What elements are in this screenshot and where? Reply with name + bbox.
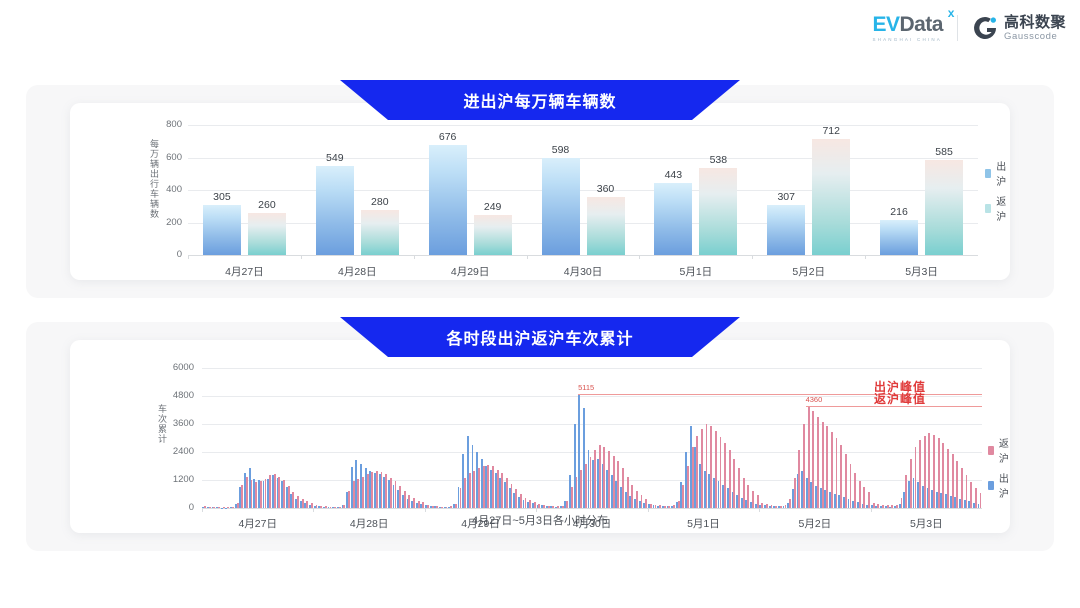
chart2-bar-ret-32	[353, 481, 355, 508]
chart2-bar-ret-114	[733, 459, 735, 508]
chart2-bar-ret-93	[636, 491, 638, 509]
chart2-bar-ret-28	[334, 507, 336, 508]
chart2-bar-ret-0	[204, 506, 206, 508]
chart2-bar-ret-92	[631, 485, 633, 508]
chart2-bar-ret-121	[766, 504, 768, 508]
chart2-y-tick-4: 4800	[160, 390, 194, 401]
chart1-bar-返沪-1	[361, 210, 399, 256]
chart1-bar-返沪-3	[587, 197, 625, 256]
legend1-item-0[interactable]: 出沪	[985, 158, 1010, 188]
chart2-bar-ret-128	[798, 450, 800, 508]
chart1-bar-出沪-6	[880, 220, 918, 255]
chart2-bar-ret-22	[306, 501, 308, 508]
chart2-bar-ret-116	[743, 478, 745, 508]
chart1-bar-返沪-4	[699, 168, 737, 255]
chart1-bar-出沪-0	[203, 205, 241, 255]
chart2-bar-ret-138	[845, 454, 847, 508]
chart2-bar-ret-54	[455, 504, 457, 508]
chart2-bar-ret-150	[901, 498, 903, 509]
chart1-y-tick-0: 0	[148, 249, 182, 260]
chart2-bar-ret-135	[831, 432, 833, 508]
chart2-bar-ret-30	[343, 505, 345, 509]
chart2-bar-ret-122	[771, 505, 773, 508]
chart2-peak-label-ret: 返沪峰值	[874, 390, 926, 407]
chart2-bar-ret-148	[891, 505, 893, 508]
chart2-bar-ret-79	[571, 487, 573, 508]
chart2-bar-ret-111	[720, 437, 722, 508]
evdata-x-mark: x	[948, 7, 954, 19]
chart2-bar-ret-57	[469, 473, 471, 508]
chart2-bar-ret-145	[877, 504, 879, 508]
chart2-bar-ret-149	[896, 505, 898, 509]
chart2-bar-ret-70	[529, 500, 531, 508]
chart1-bar-返沪-5	[812, 139, 850, 255]
chart2-bar-ret-156	[928, 433, 930, 508]
chart1-bar-value-返沪-6: 585	[914, 146, 974, 158]
chart2-bar-ret-134	[826, 426, 828, 508]
legend2-item-0[interactable]: 返沪	[988, 435, 1012, 465]
chart2-bar-ret-20	[297, 496, 299, 508]
chart2-bar-ret-13	[265, 479, 267, 508]
chart2-bar-ret-144	[873, 503, 875, 508]
chart1-bar-出沪-3	[542, 158, 580, 255]
legend2-item-1[interactable]: 出沪	[988, 470, 1012, 500]
chart2-bar-ret-72	[538, 504, 540, 508]
logo-divider	[957, 15, 958, 41]
chart2-bar-ret-8	[241, 485, 243, 508]
chart2-bar-ret-166	[975, 488, 977, 508]
evdata-ev-text: EV	[872, 13, 899, 36]
chart2-bar-ret-7	[237, 503, 239, 508]
chart2-bar-ret-51	[441, 507, 443, 508]
chart2-bar-ret-41	[395, 481, 397, 508]
panel1-title-banner: 进出沪每万辆车辆数	[340, 80, 740, 120]
evdata-subtitle: SHANGHAI CHINA	[872, 37, 942, 42]
chart2-bar-ret-69	[525, 498, 527, 509]
brand-logo-bar: EVDatax SHANGHAI CHINA 高科数聚 Gausscode	[872, 14, 1066, 42]
chart2-bar-ret-18	[288, 486, 290, 508]
chart2-bar-ret-60	[483, 466, 485, 508]
chart2-y-tick-5: 6000	[160, 362, 194, 373]
chart1-bar-value-出沪-4: 443	[643, 169, 703, 181]
chart2-bar-ret-78	[566, 501, 568, 508]
bar-chart-hourly-trips: 车次累计0120024003600480060004月27日4月28日4月29日…	[202, 368, 982, 508]
panel2-title-banner: 各时段出沪返沪车次累计	[340, 317, 740, 357]
chart2-bar-ret-115	[738, 468, 740, 508]
chart2-bar-ret-119	[757, 495, 759, 508]
panel-hourly-trips: 各时段出沪返沪车次累计 车次累计0120024003600480060004月2…	[26, 322, 1054, 551]
chart2-bar-ret-88	[613, 456, 615, 509]
chart2-bar-ret-118	[752, 491, 754, 508]
chart1-bar-value-返沪-5: 712	[801, 125, 861, 137]
chart2-bar-ret-31	[348, 491, 350, 509]
chart2-bar-ret-101	[673, 505, 675, 508]
chart1-y-tick-4: 800	[148, 119, 182, 130]
chart2-bar-ret-44	[408, 495, 410, 508]
chart2-bar-ret-112	[724, 443, 726, 508]
chart2-bar-ret-143	[868, 492, 870, 508]
chart2-bar-ret-6	[232, 507, 234, 508]
chart2-bar-ret-165	[970, 482, 972, 508]
chart2-bar-ret-85	[599, 445, 601, 508]
chart2-bar-ret-38	[381, 472, 383, 508]
chart2-bar-ret-84	[594, 450, 596, 508]
chart2-bar-ret-137	[840, 445, 842, 508]
chart1-x-label-4: 5月1日	[651, 264, 741, 279]
legend1-label-0: 出沪	[996, 158, 1010, 188]
chart2-bar-ret-50	[436, 506, 438, 508]
chart2-gridline-3	[202, 424, 982, 425]
legend1-item-1[interactable]: 返沪	[985, 193, 1010, 223]
chart2-bar-ret-117	[747, 485, 749, 508]
chart2-bar-ret-80	[576, 477, 578, 509]
chart2-bar-ret-109	[710, 426, 712, 508]
chart2-bar-ret-25	[320, 506, 322, 508]
chart2-bar-ret-164	[966, 475, 968, 508]
chart1-x-label-1: 4月28日	[312, 264, 402, 279]
chart2-bar-ret-152	[910, 459, 912, 508]
chart2-bar-ret-36	[371, 472, 373, 508]
chart1-x-tickmark-5	[752, 255, 753, 259]
chart2-bar-ret-133	[822, 422, 824, 508]
chart2-bar-ret-131	[812, 411, 814, 508]
evdata-data-text: Data	[899, 13, 943, 36]
chart1-x-tickmark-3	[527, 255, 528, 259]
chart1-bar-value-出沪-6: 216	[869, 206, 929, 218]
chart2-bar-ret-35	[367, 474, 369, 508]
panel-vehicle-counts: 进出沪每万辆车辆数 每万辆出行车辆数02004006008004月27日3052…	[26, 85, 1054, 298]
chart2-bar-ret-113	[729, 450, 731, 508]
chart2-bar-ret-21	[302, 499, 304, 508]
chart2-bar-ret-46	[418, 501, 420, 508]
chart2-bar-ret-58	[473, 471, 475, 508]
chart2-bar-ret-49	[432, 506, 434, 508]
chart2-bar-ret-151	[905, 475, 907, 508]
chart2-bar-ret-103	[682, 485, 684, 508]
chart1-bar-返沪-6	[925, 160, 963, 255]
chart2-bar-ret-104	[687, 466, 689, 508]
legend1-swatch-0	[985, 169, 991, 178]
chart1-x-tickmark-6	[865, 255, 866, 259]
chart1-gridline-1	[188, 223, 978, 224]
chart2-bar-ret-9	[246, 477, 248, 509]
chart2-bar-ret-97	[655, 505, 657, 508]
chart2-bar-ret-37	[376, 471, 378, 508]
chart2-bar-ret-108	[706, 424, 708, 508]
chart2-bar-ret-75	[552, 506, 554, 508]
chart2-bar-ret-146	[882, 505, 884, 509]
chart2-bar-ret-81	[580, 470, 582, 509]
chart1-x-label-6: 5月3日	[877, 264, 967, 279]
chart1-y-tick-2: 400	[148, 184, 182, 195]
gausscode-logo: 高科数聚 Gausscode	[972, 15, 1066, 42]
chart1-bar-value-返沪-0: 260	[237, 199, 297, 211]
legend-vehicle-counts: 出沪返沪	[985, 158, 1010, 223]
chart2-bar-ret-59	[478, 468, 480, 508]
chart2-x-axis	[202, 508, 982, 509]
chart2-bar-ret-139	[850, 464, 852, 508]
chart1-bar-value-出沪-5: 307	[756, 191, 816, 203]
chart2-bar-ret-53	[450, 506, 452, 508]
chart1-bar-出沪-1	[316, 166, 354, 255]
chart1-bar-value-返沪-2: 249	[463, 201, 523, 213]
chart2-y-tick-1: 1200	[160, 474, 194, 485]
chart2-bar-ret-1	[209, 507, 211, 508]
chart2-bar-ret-16	[278, 477, 280, 509]
chart1-x-axis	[188, 255, 978, 256]
chart2-bar-ret-147	[887, 505, 889, 508]
chart2-bar-ret-89	[617, 461, 619, 508]
chart2-bar-ret-140	[854, 473, 856, 508]
chart2-bar-ret-19	[292, 492, 294, 508]
chart2-bar-ret-158	[938, 438, 940, 508]
chart2-bar-ret-52	[446, 507, 448, 508]
chart2-bar-ret-95	[645, 499, 647, 508]
chart2-bar-ret-15	[274, 474, 276, 508]
chart2-bar-ret-64	[501, 473, 503, 508]
chart1-x-tickmark-4	[639, 255, 640, 259]
legend-hourly-trips: 返沪出沪	[988, 435, 1012, 500]
chart2-bar-ret-45	[413, 498, 415, 508]
chart2-bar-ret-40	[390, 478, 392, 508]
chart2-bar-ret-55	[460, 488, 462, 508]
chart2-bar-ret-77	[562, 506, 564, 508]
card-hourly-trips: 各时段出沪返沪车次累计 车次累计0120024003600480060004月2…	[70, 340, 1010, 533]
chart2-bar-ret-82	[585, 464, 587, 508]
chart2-gridline-5	[202, 368, 982, 369]
chart1-x-tickmark-2	[414, 255, 415, 259]
chart2-bar-ret-162	[956, 461, 958, 508]
chart2-bar-ret-153	[915, 447, 917, 508]
legend1-swatch-1	[985, 204, 991, 213]
chart2-bar-ret-91	[627, 477, 629, 509]
chart2-bar-ret-68	[520, 494, 522, 508]
chart1-bar-value-出沪-2: 676	[418, 131, 478, 143]
chart2-bar-ret-65	[506, 478, 508, 508]
chart2-bar-ret-90	[622, 468, 624, 508]
gausscode-mark-icon	[972, 15, 998, 41]
chart2-y-tick-3: 3600	[160, 418, 194, 429]
chart2-bar-ret-12	[260, 481, 262, 508]
chart2-bar-ret-66	[511, 484, 513, 509]
chart1-x-tickmark-0	[188, 255, 189, 259]
chart2-bar-ret-160	[947, 449, 949, 509]
chart2-bar-ret-14	[269, 475, 271, 508]
chart1-x-tickmark-1	[301, 255, 302, 259]
chart1-bar-返沪-0	[248, 213, 286, 255]
chart2-gridline-4	[202, 396, 982, 397]
chart2-bar-ret-123	[775, 506, 777, 508]
chart2-bar-ret-56	[464, 478, 466, 508]
chart1-bar-出沪-4	[654, 183, 692, 255]
chart2-bar-ret-100	[668, 506, 670, 508]
chart2-bar-ret-154	[919, 440, 921, 508]
chart1-x-label-3: 4月30日	[538, 264, 628, 279]
chart2-bar-ret-124	[780, 506, 782, 508]
chart2-bar-ret-27	[330, 507, 332, 508]
card-vehicle-counts: 进出沪每万辆车辆数 每万辆出行车辆数02004006008004月27日3052…	[70, 103, 1010, 280]
chart2-gridline-2	[202, 452, 982, 453]
panel2-x-caption: 4月27日~5月3日各小时分布	[70, 512, 1010, 528]
chart2-bar-ret-125	[785, 505, 787, 508]
legend2-label-1: 出沪	[999, 470, 1012, 500]
chart2-bar-ret-157	[933, 435, 935, 509]
chart2-bar-ret-10	[251, 480, 253, 508]
chart2-bar-ret-94	[641, 495, 643, 508]
chart2-bar-ret-29	[339, 507, 341, 508]
legend2-label-0: 返沪	[999, 435, 1012, 465]
chart2-bar-ret-2	[213, 507, 215, 508]
gausscode-cn-name: 高科数聚	[1004, 15, 1066, 30]
chart2-bar-ret-42	[399, 486, 401, 508]
chart2-bar-ret-87	[608, 451, 610, 508]
chart2-bar-ret-34	[362, 477, 364, 509]
chart1-bar-value-出沪-1: 549	[305, 152, 365, 164]
evdata-wordmark: EVDatax	[872, 14, 943, 35]
chart2-bar-ret-39	[385, 474, 387, 508]
chart2-peak-value-ret: 4360	[806, 395, 823, 404]
chart2-bar-ret-74	[548, 506, 550, 508]
legend1-label-1: 返沪	[996, 193, 1010, 223]
chart1-bar-value-返沪-4: 538	[688, 154, 748, 166]
chart2-bar-ret-24	[316, 505, 318, 508]
chart2-bar-ret-83	[590, 457, 592, 508]
chart2-bar-ret-98	[659, 505, 661, 508]
chart2-bar-ret-11	[255, 482, 257, 508]
evdata-logo: EVDatax SHANGHAI CHINA	[872, 14, 943, 42]
chart1-bar-value-返沪-3: 360	[576, 183, 636, 195]
chart2-bar-ret-106	[696, 436, 698, 508]
chart2-bar-ret-73	[543, 505, 545, 508]
chart2-bar-ret-48	[427, 505, 429, 508]
bar-chart-vehicle-counts: 每万辆出行车辆数02004006008004月27日3052604月28日549…	[188, 125, 978, 255]
chart2-bar-ret-142	[863, 487, 865, 508]
chart2-bar-ret-127	[794, 478, 796, 508]
chart2-peak-value-out: 5115	[578, 383, 594, 392]
chart2-bar-ret-105	[692, 447, 694, 508]
chart2-bar-ret-130	[808, 406, 810, 508]
chart2-bar-ret-161	[952, 454, 954, 508]
legend2-swatch-0	[988, 446, 994, 455]
chart2-bar-ret-86	[603, 447, 605, 508]
chart2-bar-ret-155	[924, 436, 926, 508]
chart1-bar-出沪-5	[767, 205, 805, 255]
chart2-y-tick-2: 2400	[160, 446, 194, 457]
chart2-bar-ret-96	[650, 504, 652, 508]
chart2-bar-ret-5	[227, 507, 229, 508]
chart2-bar-ret-17	[283, 480, 285, 508]
dashboard-page: EVDatax SHANGHAI CHINA 高科数聚 Gausscode 进出…	[0, 0, 1080, 608]
chart1-y-tick-3: 600	[148, 152, 182, 163]
chart2-bar-ret-107	[701, 429, 703, 508]
chart2-bar-ret-163	[961, 468, 963, 508]
chart2-bar-ret-63	[497, 470, 499, 509]
chart2-bar-ret-167	[980, 493, 982, 508]
chart1-x-label-5: 5月2日	[764, 264, 854, 279]
chart2-bar-ret-159	[942, 443, 944, 508]
chart2-bar-ret-3	[218, 507, 220, 508]
chart2-bar-ret-120	[761, 503, 763, 508]
chart2-bar-ret-102	[678, 501, 680, 508]
chart2-bar-ret-136	[836, 438, 838, 508]
chart2-bar-ret-126	[789, 499, 791, 508]
chart2-bar-ret-33	[357, 479, 359, 508]
chart2-bar-ret-99	[664, 506, 666, 508]
legend2-swatch-1	[988, 481, 994, 490]
chart1-bar-返沪-2	[474, 215, 512, 255]
chart2-bar-ret-61	[487, 465, 489, 508]
chart1-bar-value-出沪-3: 598	[531, 144, 591, 156]
chart2-bar-ret-4	[223, 507, 225, 508]
chart2-bar-ret-43	[404, 491, 406, 509]
chart1-y-tick-1: 200	[148, 217, 182, 228]
chart2-bar-ret-62	[492, 466, 494, 508]
gausscode-en-name: Gausscode	[1004, 32, 1066, 42]
chart2-bar-ret-132	[817, 417, 819, 508]
chart2-bar-ret-129	[803, 424, 805, 508]
chart2-bar-ret-110	[715, 431, 717, 508]
chart2-bar-ret-67	[515, 489, 517, 508]
chart1-bar-value-返沪-1: 280	[350, 196, 410, 208]
chart1-bar-出沪-2	[429, 145, 467, 255]
chart2-bar-ret-26	[325, 506, 327, 508]
chart2-bar-ret-76	[557, 506, 559, 508]
chart2-bar-ret-141	[859, 481, 861, 508]
chart1-x-label-2: 4月29日	[425, 264, 515, 279]
chart1-x-label-0: 4月27日	[199, 264, 289, 279]
